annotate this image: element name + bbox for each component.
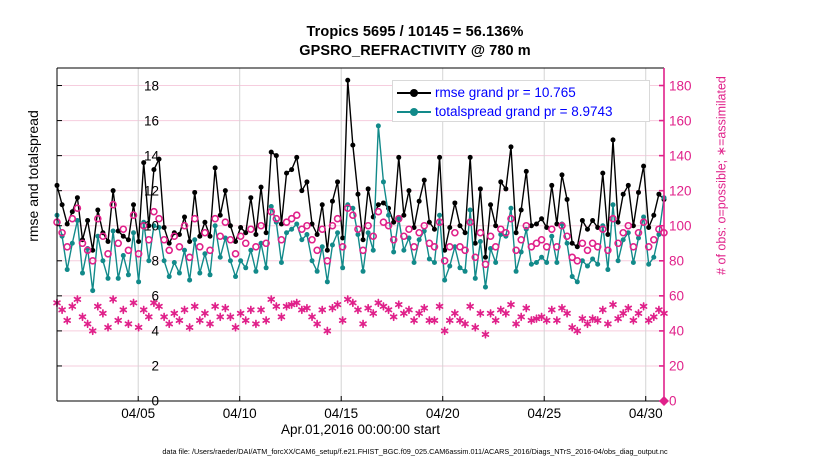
- y-tick-left: 8: [99, 253, 159, 268]
- y-tick-right: 60: [669, 288, 729, 303]
- x-tick: 04/30: [606, 406, 686, 421]
- y-tick-right: 120: [669, 183, 729, 198]
- y-tick-right: 100: [669, 218, 729, 233]
- y-tick-left: 16: [99, 113, 159, 128]
- y-tick-left: 14: [99, 148, 159, 163]
- y-tick-left: 2: [99, 358, 159, 373]
- x-tick: 04/20: [403, 406, 483, 421]
- y-tick-left: 18: [99, 78, 159, 93]
- legend-marker-totalspread-icon: [397, 105, 431, 119]
- x-tick: 04/25: [504, 406, 584, 421]
- y-tick-right: 40: [669, 323, 729, 338]
- legend-label-rmse: rmse grand pr = 10.765: [431, 85, 576, 100]
- x-tick: 04/15: [301, 406, 381, 421]
- x-tick: 04/05: [98, 406, 178, 421]
- legend: rmse grand pr = 10.765 totalspread grand…: [392, 80, 650, 122]
- y-tick-right: 20: [669, 358, 729, 373]
- y-tick-left: 10: [99, 218, 159, 233]
- legend-item-rmse[interactable]: rmse grand pr = 10.765: [397, 83, 645, 102]
- legend-item-totalspread[interactable]: totalspread grand pr = 8.9743: [397, 102, 645, 121]
- y-tick-right: 80: [669, 253, 729, 268]
- y-tick-right: 180: [669, 78, 729, 93]
- legend-label-totalspread: totalspread grand pr = 8.9743: [431, 104, 613, 119]
- y-tick-right: 160: [669, 113, 729, 128]
- y-tick-left: 4: [99, 323, 159, 338]
- y-tick-left: 12: [99, 183, 159, 198]
- legend-marker-rmse-icon: [397, 86, 431, 100]
- y-tick-right: 140: [669, 148, 729, 163]
- x-tick: 04/10: [200, 406, 280, 421]
- y-tick-left: 6: [99, 288, 159, 303]
- figure-canvas: Tropics 5695 / 10145 = 56.136% GPSRO_REF…: [0, 0, 830, 470]
